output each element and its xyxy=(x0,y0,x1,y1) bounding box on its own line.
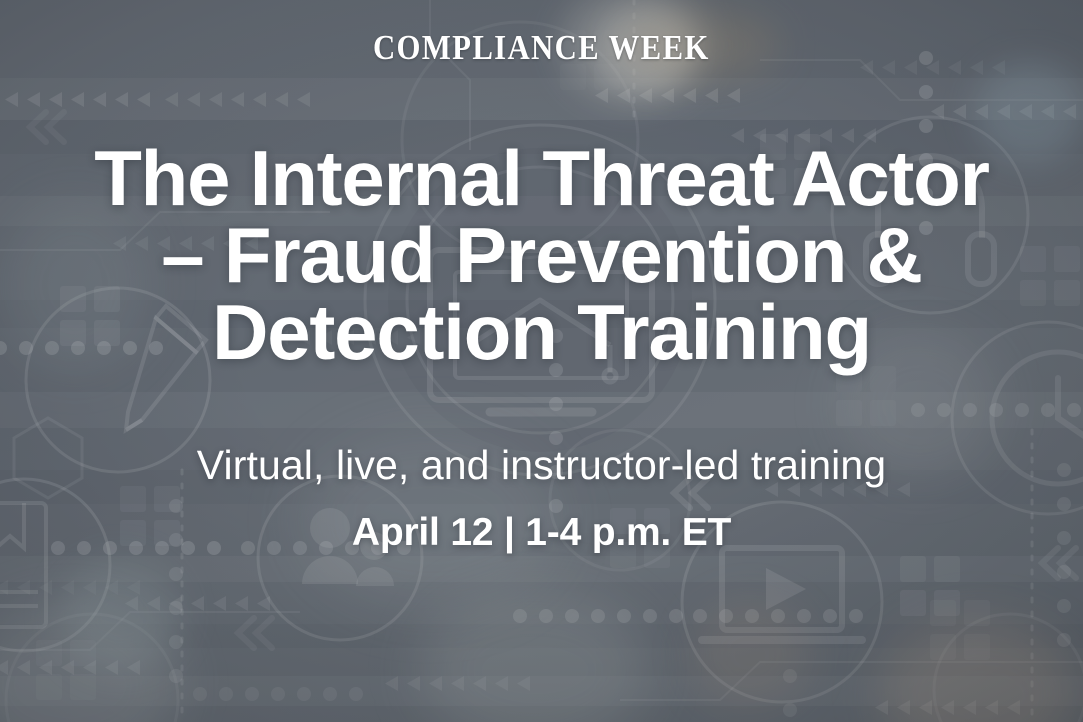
headline-line-2: – Fraud Prevention & xyxy=(19,217,1064,294)
compliance-week-logo: COMPLIANCE WEEK xyxy=(373,28,710,68)
banner-content: COMPLIANCE WEEK The Internal Threat Acto… xyxy=(0,0,1083,722)
page-title: The Internal Threat Actor – Fraud Preven… xyxy=(19,140,1064,372)
event-dateline: April 12 | 1-4 p.m. ET xyxy=(352,511,731,555)
headline-line-3: Detection Training xyxy=(19,294,1064,371)
promo-banner: COMPLIANCE WEEK The Internal Threat Acto… xyxy=(0,0,1083,722)
headline-line-1: The Internal Threat Actor xyxy=(19,140,1064,217)
event-format-subtitle: Virtual, live, and instructor-led traini… xyxy=(197,442,886,489)
